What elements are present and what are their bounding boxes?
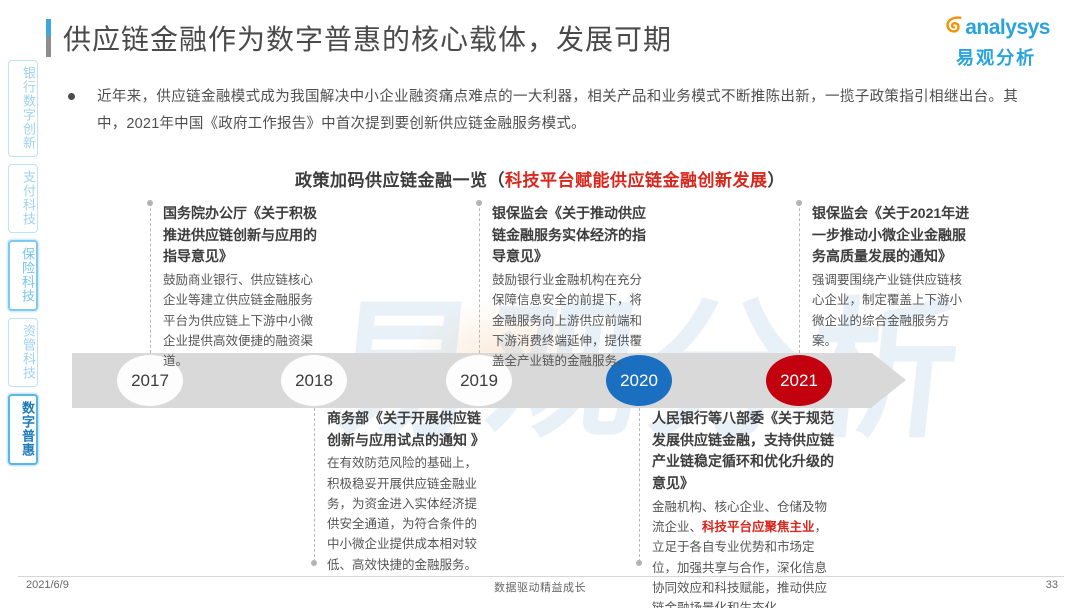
card-body-2017: 鼓励商业银行、供应链核心企业等建立供应链金融服务平台为供应链上下游中小微企业提供… [163, 270, 320, 371]
card-body-2020-highlight: 科技平台应聚焦主业 [702, 520, 815, 534]
connector-line-2018 [314, 408, 315, 562]
timeline-year-2021[interactable]: 2021 [766, 355, 832, 406]
card-title-2018: 商务部《关于开展供应链创新与应用试点的通知 》 [327, 408, 485, 451]
sidebar-tabs: 银行数字创新 支付科技 保险科技 资管科技 数字普惠 [8, 60, 38, 472]
brand-logo: analysys 易观分析 [942, 14, 1050, 70]
connector-dot-2017 [147, 200, 153, 206]
timeline-card-2018: 商务部《关于开展供应链创新与应用试点的通知 》 在有效防范风险的基础上，积极稳妥… [327, 408, 485, 575]
chart-title-main: 政策加码供应链金融一览（ [295, 171, 505, 190]
timeline-card-2019: 银保监会《关于推动供应链金融服务实体经济的指导意见》 鼓励银行业金融机构在充分保… [492, 203, 650, 371]
intro-bullet-text: 近年来，供应链金融模式成为我国解决中小企业融资痛点难点的一大利器，相关产品和业务… [97, 84, 1018, 138]
page-title: 供应链金融作为数字普惠的核心载体，发展可期 [46, 18, 672, 58]
connector-line-2019 [479, 203, 480, 353]
logo-swirl-icon [942, 14, 964, 41]
card-title-2017: 国务院办公厅《关于积极推进供应链创新与应用的指导意见》 [163, 203, 320, 268]
chart-title-highlight: 科技平台赋能供应链金融创新发展 [505, 171, 768, 190]
chart-title: 政策加码供应链金融一览（科技平台赋能供应链金融创新发展） [0, 166, 1080, 191]
connector-line-2017 [150, 203, 151, 353]
logo-chinese-name: 易观分析 [942, 44, 1050, 70]
connector-dot-2021 [796, 200, 802, 206]
timeline-card-2021: 银保监会《关于2021年进一步推动小微企业金融服务高质量发展的通知》 强调要围绕… [812, 203, 972, 351]
connector-line-2021 [799, 203, 800, 353]
card-title-2020: 人民银行等八部委《关于规范发展供应链金融，支持供应链产业链稳定循环和优化升级的意… [652, 408, 838, 495]
title-text: 供应链金融作为数字普惠的核心载体，发展可期 [63, 18, 672, 58]
footer-slogan: 数据驱动精益成长 [0, 579, 1080, 595]
slide-root: 易观分析 供应链金融作为数字普惠的核心载体，发展可期 analysys 易观分析… [0, 0, 1080, 608]
card-title-2021: 银保监会《关于2021年进一步推动小微企业金融服务高质量发展的通知》 [812, 203, 972, 268]
title-accent-bar [46, 19, 51, 57]
policy-timeline: 2017 2018 2019 2020 2021 国务院办公厅《关于积极推进供应… [0, 195, 1080, 575]
connector-line-2020 [639, 408, 640, 562]
intro-bullet: 近年来，供应链金融模式成为我国解决中小企业融资痛点难点的一大利器，相关产品和业务… [68, 84, 1018, 138]
bullet-dot-icon [68, 93, 75, 100]
card-body-2021: 强调要围绕产业链供应链核心企业，制定覆盖上下游小微企业的综合金融服务方案。 [812, 270, 972, 351]
timeline-card-2020: 人民银行等八部委《关于规范发展供应链金融，支持供应链产业链稳定循环和优化升级的意… [652, 408, 838, 608]
footer-page-number: 33 [1046, 579, 1058, 591]
card-body-2019: 鼓励银行业金融机构在充分保障信息安全的前提下，将金融服务向上游供应前端和下游消费… [492, 270, 650, 371]
sidebar-item-asset-management-tech[interactable]: 资管科技 [8, 318, 38, 387]
connector-dot-2020 [636, 560, 642, 566]
chart-title-tail: ） [768, 171, 786, 190]
timeline-card-2017: 国务院办公厅《关于积极推进供应链创新与应用的指导意见》 鼓励商业银行、供应链核心… [163, 203, 320, 371]
sidebar-item-bank-digital-innovation[interactable]: 银行数字创新 [8, 60, 38, 157]
connector-dot-2018 [311, 560, 317, 566]
card-body-2018: 在有效防范风险的基础上，积极稳妥开展供应链金融业务，为资金进入实体经济提供安全通… [327, 453, 485, 575]
sidebar-item-digital-inclusive-finance[interactable]: 数字普惠 [8, 394, 38, 465]
connector-dot-2019 [476, 200, 482, 206]
timeline-arrow-head-icon [872, 353, 906, 407]
card-title-2019: 银保监会《关于推动供应链金融服务实体经济的指导意见》 [492, 203, 650, 268]
footer-divider [18, 576, 1064, 577]
logo-wordmark: analysys [965, 17, 1050, 38]
sidebar-item-insurance-tech[interactable]: 保险科技 [8, 240, 38, 311]
